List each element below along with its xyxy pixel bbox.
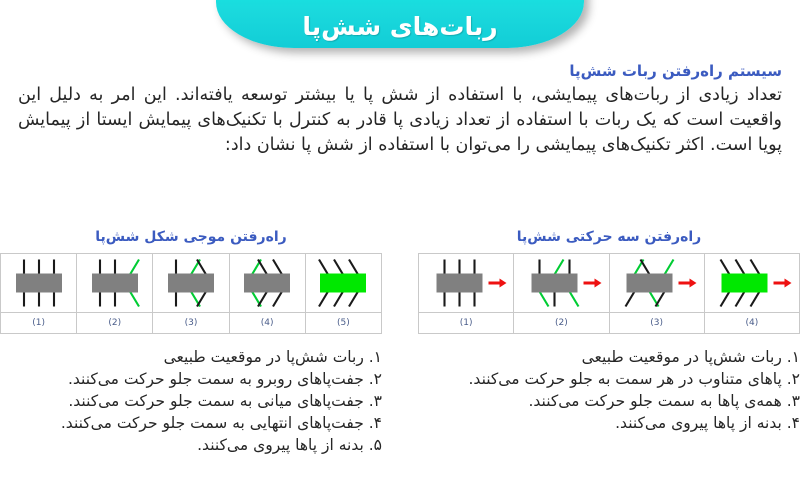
forward-arrow-icon — [583, 279, 601, 288]
leg-top-2 — [736, 260, 745, 275]
banner-shape: ربات‌های شش‌پا — [216, 0, 584, 48]
forward-arrow-icon — [488, 279, 506, 288]
tripod-label-row: (1)(2)(3)(4) — [419, 313, 800, 334]
intro-section: سیستم راه‌رفتن ربات شش‌پا تعداد زیادی از… — [18, 62, 782, 158]
gait-frame-4 — [705, 255, 798, 311]
leg-bottom-1 — [539, 292, 548, 307]
wave-frame-row — [1, 254, 382, 313]
robot-body — [320, 274, 366, 293]
gait-frame-label: (2) — [77, 313, 153, 334]
gait-frame-3 — [154, 255, 228, 311]
gait-frame-label: (3) — [609, 313, 704, 334]
gait-step-item: ۳. جفت‌پاهای میانی به سمت جلو حرکت می‌کن… — [0, 390, 382, 412]
forward-arrow-icon — [679, 279, 697, 288]
leg-bottom-3 — [569, 292, 578, 307]
leg-bottom-2 — [736, 292, 745, 307]
gait-step-item: ۵. بدنه از پاها پیروی می‌کنند. — [0, 434, 382, 456]
tripod-gait-heading: راه‌رفتن سه حرکتی شش‌پا — [418, 228, 800, 246]
leg-top-2 — [334, 260, 343, 275]
leg-top-2 — [258, 260, 267, 275]
leg-bottom-1 — [626, 292, 635, 307]
tripod-gait-column: راه‌رفتن سه حرکتی شش‌پا (1)(2)(3)(4) ۱. … — [418, 228, 800, 456]
robot-body — [722, 274, 768, 293]
robot-body — [92, 274, 138, 293]
leg-bottom-3 — [751, 292, 760, 307]
gait-frame-cell — [419, 254, 514, 313]
robot-body — [168, 274, 214, 293]
gait-frame-cell — [153, 254, 229, 313]
gait-frame-label: (4) — [704, 313, 799, 334]
gait-frame-3 — [610, 255, 703, 311]
leg-top-2 — [641, 260, 650, 275]
tripod-frame-row — [419, 254, 800, 313]
gait-frame-label: (3) — [153, 313, 229, 334]
wave-label-row: (1)(2)(3)(4)(5) — [1, 313, 382, 334]
intro-paragraph: تعداد زیادی از ربات‌های پیمایشی، با استف… — [18, 83, 782, 158]
robot-body — [627, 274, 673, 293]
page-banner: ربات‌های شش‌پا — [0, 0, 800, 52]
gait-step-item: ۴. جفت‌پاهای انتهایی به سمت جلو حرکت می‌… — [0, 412, 382, 434]
gait-frame-cell — [229, 254, 305, 313]
page-title: ربات‌های شش‌پا — [216, 12, 584, 41]
forward-arrow-icon — [774, 279, 792, 288]
leg-top-2 — [554, 260, 563, 275]
robot-body — [244, 274, 290, 293]
gait-frame-4 — [230, 255, 304, 311]
gait-frame-2 — [78, 255, 152, 311]
leg-bottom-2 — [334, 292, 343, 307]
leg-bottom-3 — [656, 292, 665, 307]
robot-body — [531, 274, 577, 293]
gait-frame-cell — [1, 254, 77, 313]
gait-frame-label: (4) — [229, 313, 305, 334]
gait-frame-label: (5) — [305, 313, 381, 334]
gait-frame-label: (1) — [1, 313, 77, 334]
intro-heading: سیستم راه‌رفتن ربات شش‌پا — [18, 62, 782, 81]
wave-gait-heading: راه‌رفتن موجی شکل شش‌پا — [0, 228, 382, 246]
leg-bottom-3 — [197, 292, 206, 307]
wave-gait-column: راه‌رفتن موجی شکل شش‌پا (1)(2)(3)(4)(5) … — [0, 228, 382, 456]
gait-step-item: ۴. بدنه از پاها پیروی می‌کنند. — [418, 412, 800, 434]
leg-bottom-3 — [349, 292, 358, 307]
gait-frame-label: (2) — [514, 313, 609, 334]
leg-bottom-2 — [258, 292, 267, 307]
leg-top-3 — [751, 260, 760, 275]
gait-step-item: ۱. ربات شش‌پا در موقعیت طبیعی — [0, 346, 382, 368]
leg-bottom-3 — [130, 292, 139, 307]
leg-top-3 — [665, 260, 674, 275]
tripod-gait-diagram: (1)(2)(3)(4) — [418, 253, 800, 334]
gait-frame-label: (1) — [419, 313, 514, 334]
robot-body — [16, 274, 62, 293]
wave-gait-diagram: (1)(2)(3)(4)(5) — [0, 253, 382, 334]
leg-top-3 — [349, 260, 358, 275]
gait-frame-5 — [306, 255, 380, 311]
tripod-step-list: ۱. ربات شش‌پا در موقعیت طبیعی۲. پاهای مت… — [418, 346, 800, 434]
gait-step-item: ۲. جفت‌پاهای روبرو به سمت جلو حرکت می‌کن… — [0, 368, 382, 390]
gait-frame-cell — [704, 254, 799, 313]
leg-bottom-1 — [721, 292, 730, 307]
leg-top-1 — [721, 260, 730, 275]
gait-frame-cell — [77, 254, 153, 313]
gait-columns: راه‌رفتن سه حرکتی شش‌پا (1)(2)(3)(4) ۱. … — [0, 228, 800, 456]
gait-frame-1 — [2, 255, 76, 311]
robot-body — [436, 274, 482, 293]
gait-step-item: ۲. پاهای متناوب در هر سمت به جلو حرکت می… — [418, 368, 800, 390]
leg-top-3 — [130, 260, 139, 275]
gait-step-item: ۳. همه‌ی پاها به سمت جلو حرکت می‌کنند. — [418, 390, 800, 412]
gait-frame-cell — [514, 254, 609, 313]
leg-top-1 — [319, 260, 328, 275]
gait-step-item: ۱. ربات شش‌پا در موقعیت طبیعی — [418, 346, 800, 368]
gait-frame-cell — [305, 254, 381, 313]
leg-bottom-3 — [273, 292, 282, 307]
leg-bottom-1 — [319, 292, 328, 307]
leg-top-3 — [273, 260, 282, 275]
gait-frame-1 — [420, 255, 513, 311]
wave-step-list: ۱. ربات شش‌پا در موقعیت طبیعی۲. جفت‌پاها… — [0, 346, 382, 456]
gait-frame-2 — [515, 255, 608, 311]
gait-frame-cell — [609, 254, 704, 313]
leg-top-3 — [197, 260, 206, 275]
